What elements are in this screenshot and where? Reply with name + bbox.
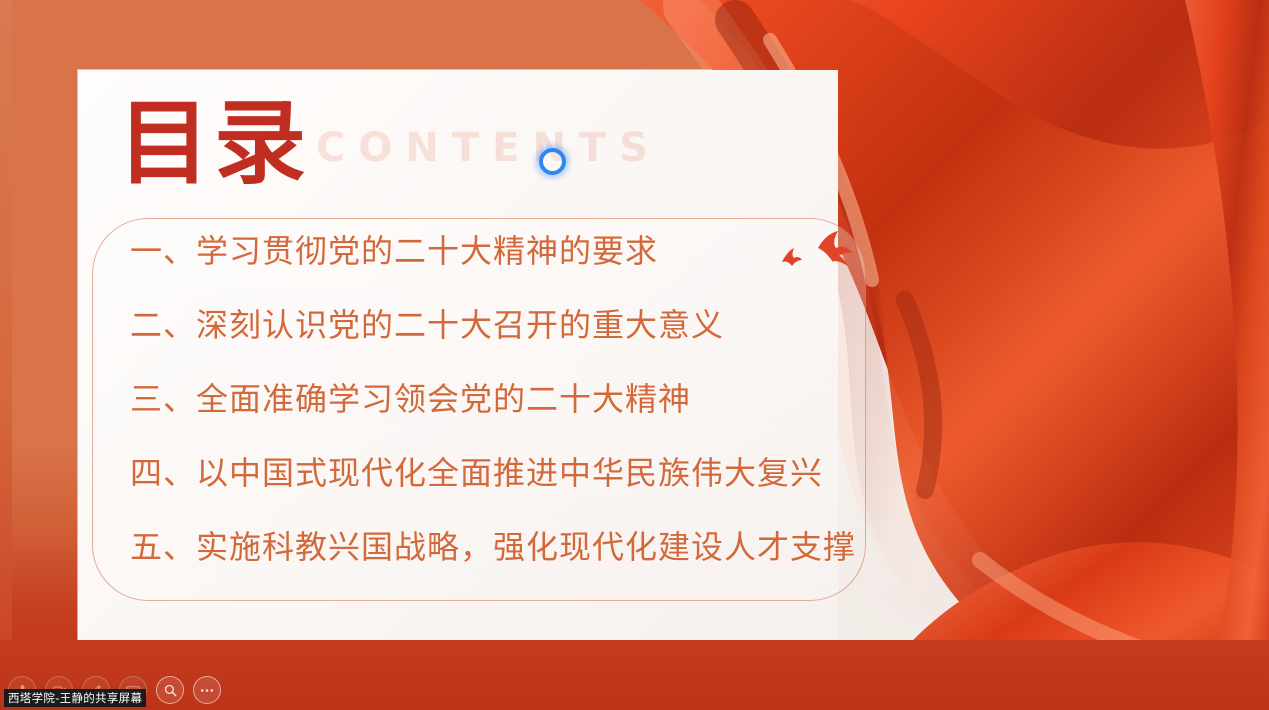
contents-list: 一、学习贯彻党的二十大精神的要求 二、深刻认识党的二十大召开的重大意义 三、全面… [130,232,890,566]
toc-item-4: 四、以中国式现代化全面推进中华民族伟大复兴 [130,454,890,492]
toc-item-1: 一、学习贯彻党的二十大精神的要求 [130,232,890,270]
shared-screen-view: CONTENTS 目录 一、学习贯彻党的二十大精神的要求 二、深刻认识党的二十大… [0,0,1269,710]
screen-share-label: 西塔学院-王静的共享屏幕 [4,689,146,707]
zoom-search-button[interactable] [156,676,184,704]
title-chinese: 目录 [118,92,310,196]
toc-item-3: 三、全面准确学习领会党的二十大精神 [130,380,890,418]
search-icon [164,684,177,697]
toc-item-2: 二、深刻认识党的二十大召开的重大意义 [130,306,890,344]
meeting-toolbar[interactable] [0,670,1269,710]
background-left-strip [0,0,12,660]
toc-item-5: 五、实施科教兴国战略，强化现代化建设人才支撑 [130,528,890,566]
pointer-ring-icon [539,148,566,175]
title-english: CONTENTS [316,124,661,172]
more-dots-icon [200,688,214,693]
more-options-button[interactable] [193,676,221,704]
